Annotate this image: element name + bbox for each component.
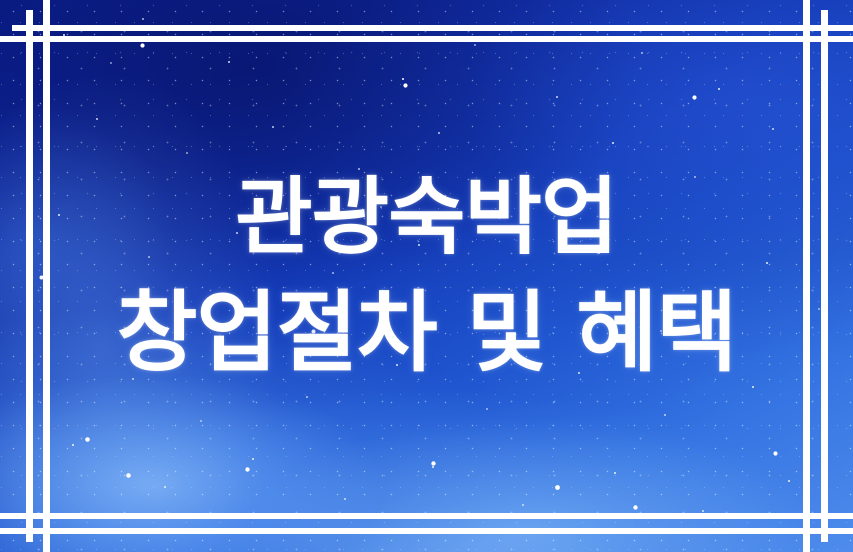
title-block: 관광숙박업 창업절차 및 혜택: [0, 0, 853, 552]
title-line-secondary: 창업절차 및 혜택: [116, 289, 736, 377]
title-line-primary: 관광숙박업: [235, 175, 617, 259]
title-card: 관광숙박업 창업절차 및 혜택: [0, 0, 853, 552]
